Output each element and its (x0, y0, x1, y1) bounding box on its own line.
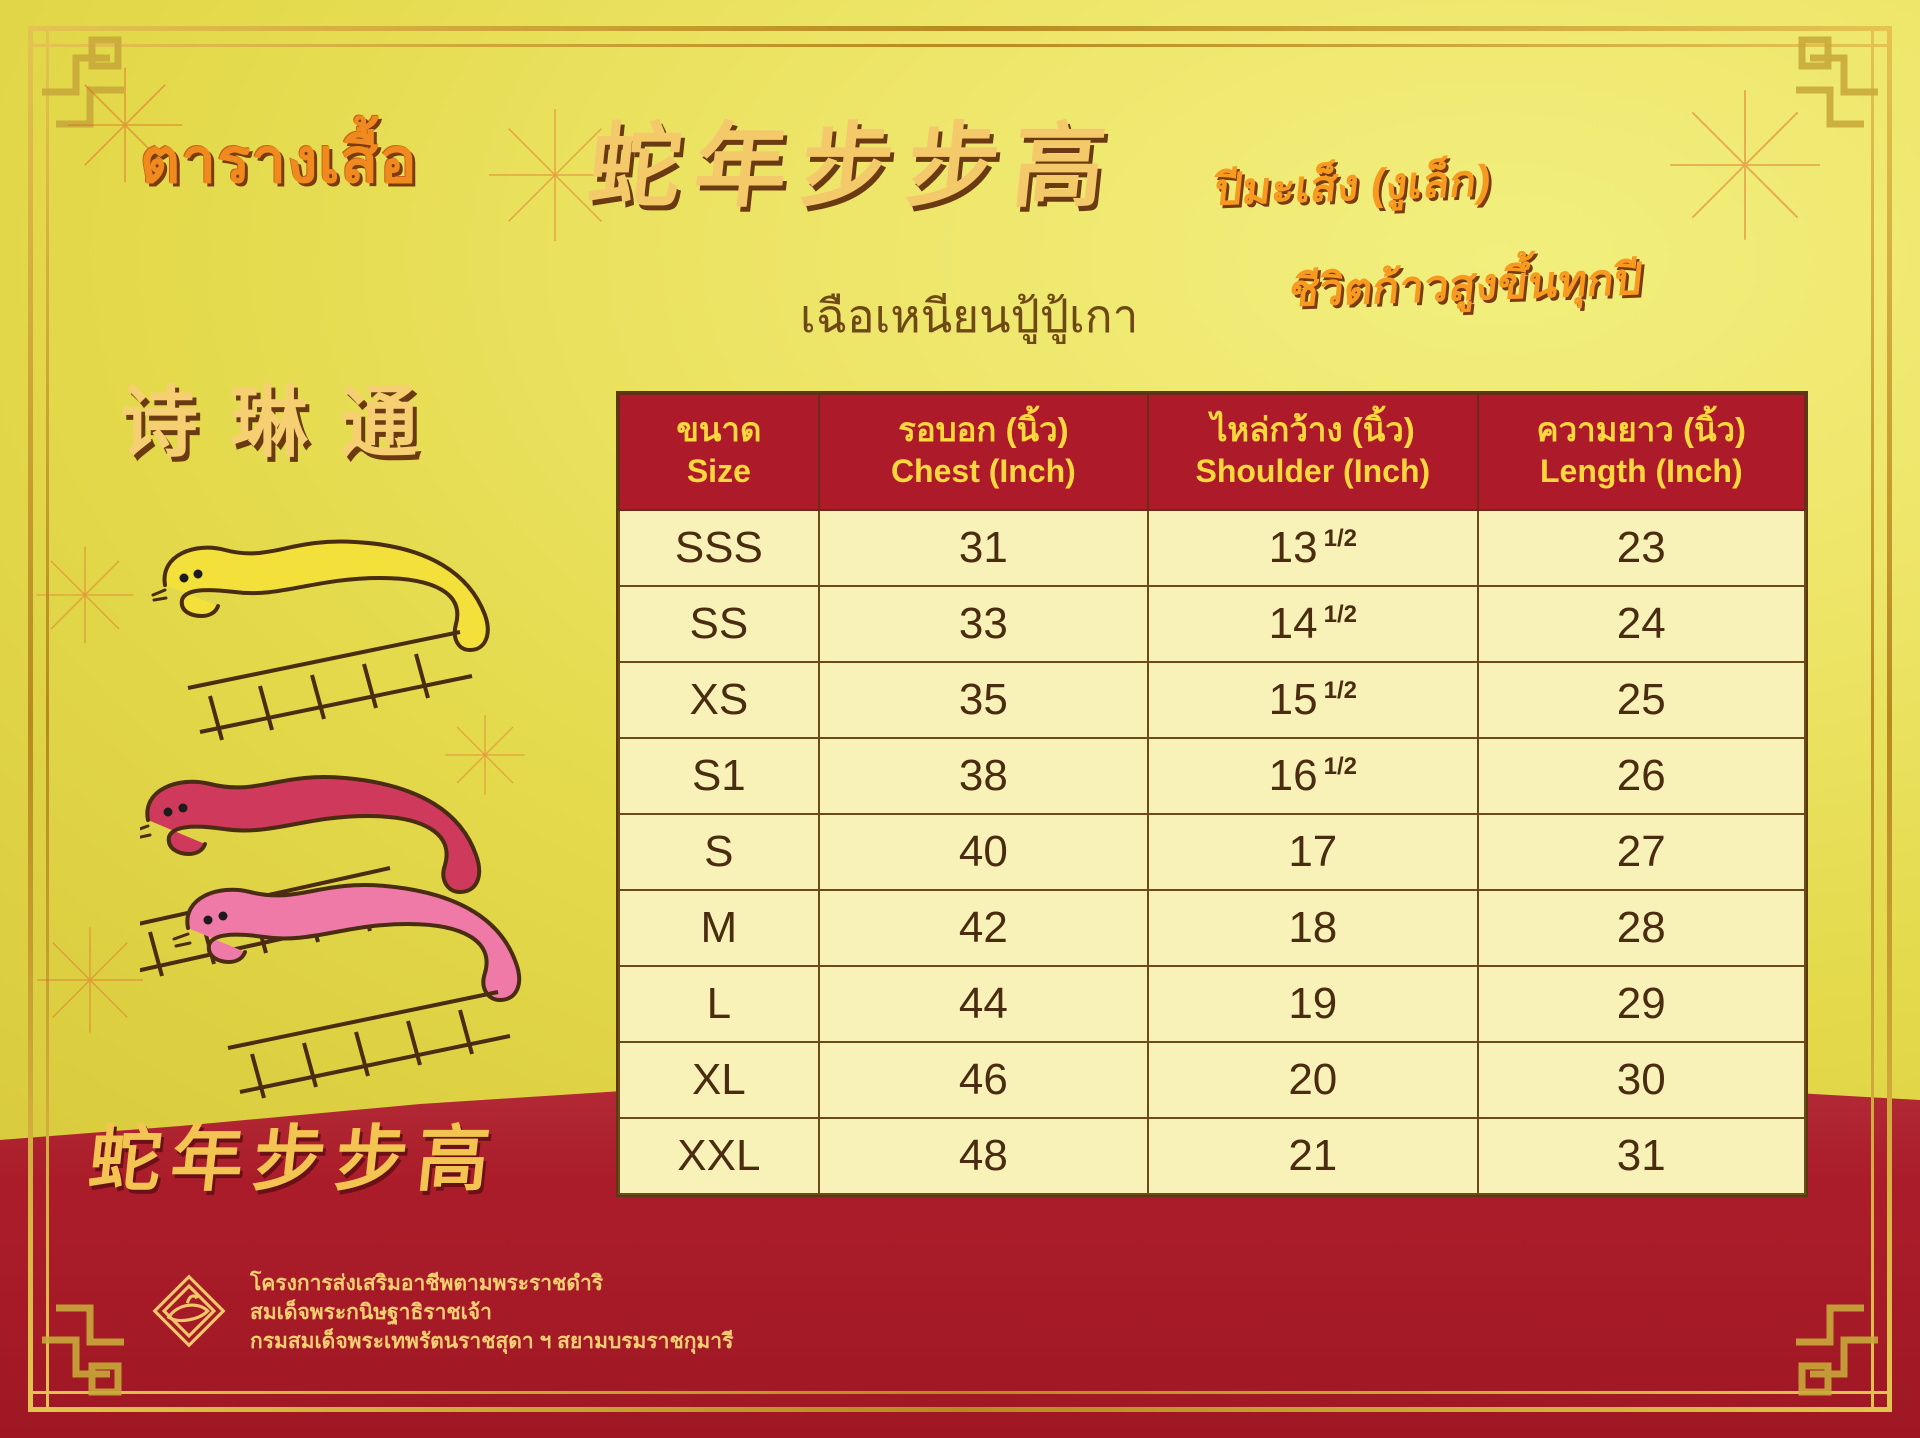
frame-right-inner (1871, 26, 1874, 1412)
firework-sparkle-icon (30, 540, 140, 650)
column-header-size-en: Size (626, 451, 812, 491)
table-row: XL462030 (619, 1042, 1805, 1118)
frame-left-outer (28, 26, 33, 1412)
table-row: SS33141/224 (619, 586, 1805, 662)
cell-size: XXL (619, 1118, 819, 1194)
thai-blessing-label: ชีวิตก้าวสูงขึ้นทุกปี (1286, 244, 1646, 326)
chinese-bottom-headline: 蛇年步步高 (84, 1100, 505, 1205)
firework-sparkle-icon (30, 920, 150, 1040)
cell-chest: 44 (819, 966, 1148, 1042)
column-header-size: ขนาด Size (619, 394, 819, 510)
page-title: ตารางเสื้อ (140, 112, 418, 210)
cell-chest: 31 (819, 510, 1148, 586)
table-header: ขนาด Size รอบอก (นิ้ว) Chest (Inch) ไหล่… (619, 394, 1805, 510)
cell-chest: 46 (819, 1042, 1148, 1118)
table-row: XS35151/225 (619, 662, 1805, 738)
column-header-size-th: ขนาด (676, 411, 761, 448)
cell-size: S (619, 814, 819, 890)
cell-shoulder: 151/2 (1148, 662, 1478, 738)
royal-project-logo-icon (150, 1272, 228, 1350)
cell-length: 27 (1478, 814, 1805, 890)
cell-size: SSS (619, 510, 819, 586)
frame-top-outer (28, 26, 1892, 31)
frame-top-inner (28, 44, 1892, 47)
credit-block: โครงการส่งเสริมอาชีพตามพระราชดำริ สมเด็จ… (250, 1270, 733, 1357)
cell-size: M (619, 890, 819, 966)
poster-canvas: ตารางเสื้อ 蛇年步步高 เฉือเหนียนปู้ปู้เกา ปีม… (0, 0, 1920, 1438)
column-header-chest-th: รอบอก (นิ้ว) (898, 411, 1069, 448)
table-body: SSS31131/223SS33141/224XS35151/225S13816… (619, 510, 1805, 1194)
cell-shoulder: 20 (1148, 1042, 1478, 1118)
chinese-headline: 蛇年步步高 (583, 92, 1127, 225)
credit-line-2: สมเด็จพระกนิษฐาธิราชเจ้า (250, 1299, 733, 1328)
column-header-shoulder-th: ไหล่กว้าง (นิ้ว) (1211, 411, 1415, 448)
cell-length: 28 (1478, 890, 1805, 966)
column-header-shoulder-en: Shoulder (Inch) (1155, 451, 1471, 491)
cell-length: 26 (1478, 738, 1805, 814)
cell-shoulder: 19 (1148, 966, 1478, 1042)
column-header-chest: รอบอก (นิ้ว) Chest (Inch) (819, 394, 1148, 510)
cell-length: 24 (1478, 586, 1805, 662)
cell-shoulder: 21 (1148, 1118, 1478, 1194)
cell-length: 25 (1478, 662, 1805, 738)
cell-shoulder: 18 (1148, 890, 1478, 966)
cell-shoulder: 141/2 (1148, 586, 1478, 662)
table-row: SSS31131/223 (619, 510, 1805, 586)
fraction-half: 1/2 (1324, 525, 1357, 552)
chinese-vertical-name: 诗琳通 (120, 360, 450, 472)
firework-sparkle-icon (1660, 80, 1830, 250)
cell-shoulder: 17 (1148, 814, 1478, 890)
table-row: S138161/226 (619, 738, 1805, 814)
cell-chest: 48 (819, 1118, 1148, 1194)
cell-chest: 40 (819, 814, 1148, 890)
cell-chest: 33 (819, 586, 1148, 662)
cell-size: S1 (619, 738, 819, 814)
cell-length: 30 (1478, 1042, 1805, 1118)
column-header-length-en: Length (Inch) (1485, 451, 1798, 491)
frame-bottom-inner (28, 1391, 1892, 1394)
fraction-half: 1/2 (1324, 677, 1357, 704)
fraction-half: 1/2 (1324, 753, 1357, 780)
credit-line-3: กรมสมเด็จพระเทพรัตนราชสุดา ฯ สยามบรมราชก… (250, 1328, 733, 1357)
cell-size: L (619, 966, 819, 1042)
cell-size: XS (619, 662, 819, 738)
cell-chest: 35 (819, 662, 1148, 738)
cell-length: 31 (1478, 1118, 1805, 1194)
thai-subtitle: เฉือเหนียนปู้ปู้เกา (800, 280, 1138, 353)
cell-shoulder: 131/2 (1148, 510, 1478, 586)
table-row: XXL482131 (619, 1118, 1805, 1194)
column-header-chest-en: Chest (Inch) (826, 451, 1141, 491)
fraction-half: 1/2 (1324, 601, 1357, 628)
cell-size: SS (619, 586, 819, 662)
cell-chest: 38 (819, 738, 1148, 814)
credit-line-1: โครงการส่งเสริมอาชีพตามพระราชดำริ (250, 1270, 733, 1299)
cell-size: XL (619, 1042, 819, 1118)
frame-bottom-outer (28, 1407, 1892, 1412)
table-header-row: ขนาด Size รอบอก (นิ้ว) Chest (Inch) ไหล่… (619, 394, 1805, 510)
table-row: L441929 (619, 966, 1805, 1042)
frame-left-inner (46, 26, 49, 1412)
thai-year-of-snake-label: ปีมะเส็ง (งูเล็ก) (1211, 145, 1495, 225)
cell-length: 23 (1478, 510, 1805, 586)
column-header-length-th: ความยาว (นิ้ว) (1537, 411, 1747, 448)
size-chart-table: ขนาด Size รอบอก (นิ้ว) Chest (Inch) ไหล่… (618, 393, 1806, 1195)
column-header-shoulder: ไหล่กว้าง (นิ้ว) Shoulder (Inch) (1148, 394, 1478, 510)
frame-right-outer (1887, 26, 1892, 1412)
cell-chest: 42 (819, 890, 1148, 966)
column-header-length: ความยาว (นิ้ว) Length (Inch) (1478, 394, 1805, 510)
table-row: M421828 (619, 890, 1805, 966)
corner-ornament-bottomright (1766, 1280, 1886, 1400)
cell-shoulder: 161/2 (1148, 738, 1478, 814)
cell-length: 29 (1478, 966, 1805, 1042)
table-row: S401727 (619, 814, 1805, 890)
corner-ornament-bottomleft (34, 1280, 154, 1400)
